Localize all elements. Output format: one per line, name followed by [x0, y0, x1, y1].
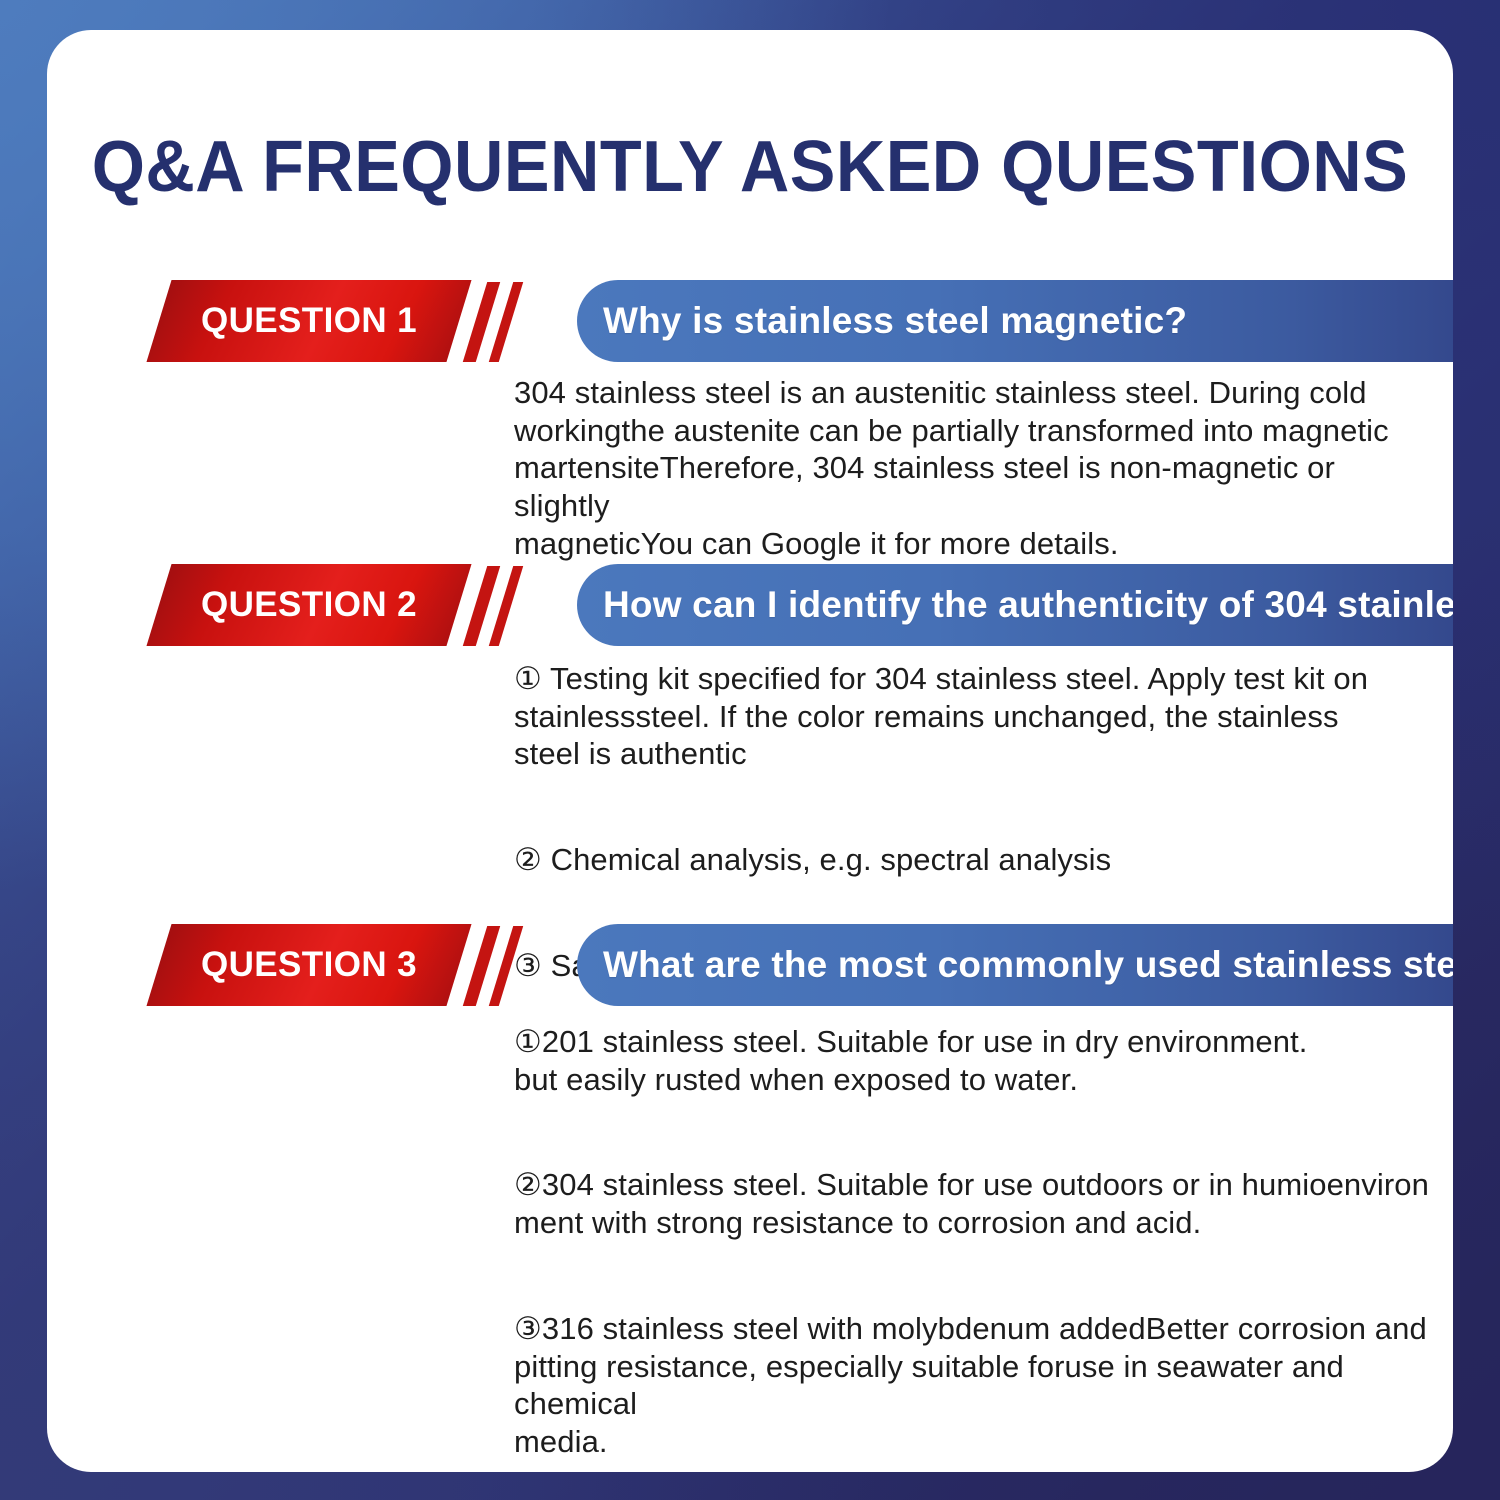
question-badge-1[interactable]: QUESTION 1 [146, 280, 471, 362]
question-badge-3[interactable]: QUESTION 3 [146, 924, 471, 1006]
answer-paragraph: ③316 stainless steel with molybdenum add… [514, 1310, 1444, 1461]
question-badge-label-1: QUESTION 1 [201, 301, 417, 341]
answer-paragraph: ①201 stainless steel. Suitable for use i… [514, 1023, 1444, 1099]
answer-paragraph: ② Chemical analysis, e.g. spectral analy… [514, 841, 1414, 879]
answer-paragraph: 304 stainless steel is an austenitic sta… [514, 374, 1414, 563]
question-badge-2[interactable]: QUESTION 2 [146, 564, 471, 646]
question-heading-2: How can I identify the authenticity of 3… [603, 584, 1453, 626]
answer-paragraph: ① Testing kit specified for 304 stainles… [514, 660, 1414, 773]
question-badge-label-3: QUESTION 3 [201, 945, 417, 985]
poster-background: Q&A FREQUENTLY ASKED QUESTIONS QUESTION … [0, 0, 1500, 1500]
answer-block-1: 304 stainless steel is an austenitic sta… [514, 336, 1414, 601]
question-heading-3: What are the most commonly used stainles… [603, 944, 1453, 986]
page-title: Q&A FREQUENTLY ASKED QUESTIONS [82, 126, 1418, 208]
answer-paragraph: ②304 stainless steel. Suitable for use o… [514, 1166, 1444, 1242]
question-badge-label-2: QUESTION 2 [201, 585, 417, 625]
answer-block-3: ①201 stainless steel. Suitable for use i… [514, 985, 1444, 1472]
faq-card: Q&A FREQUENTLY ASKED QUESTIONS QUESTION … [47, 30, 1453, 1472]
